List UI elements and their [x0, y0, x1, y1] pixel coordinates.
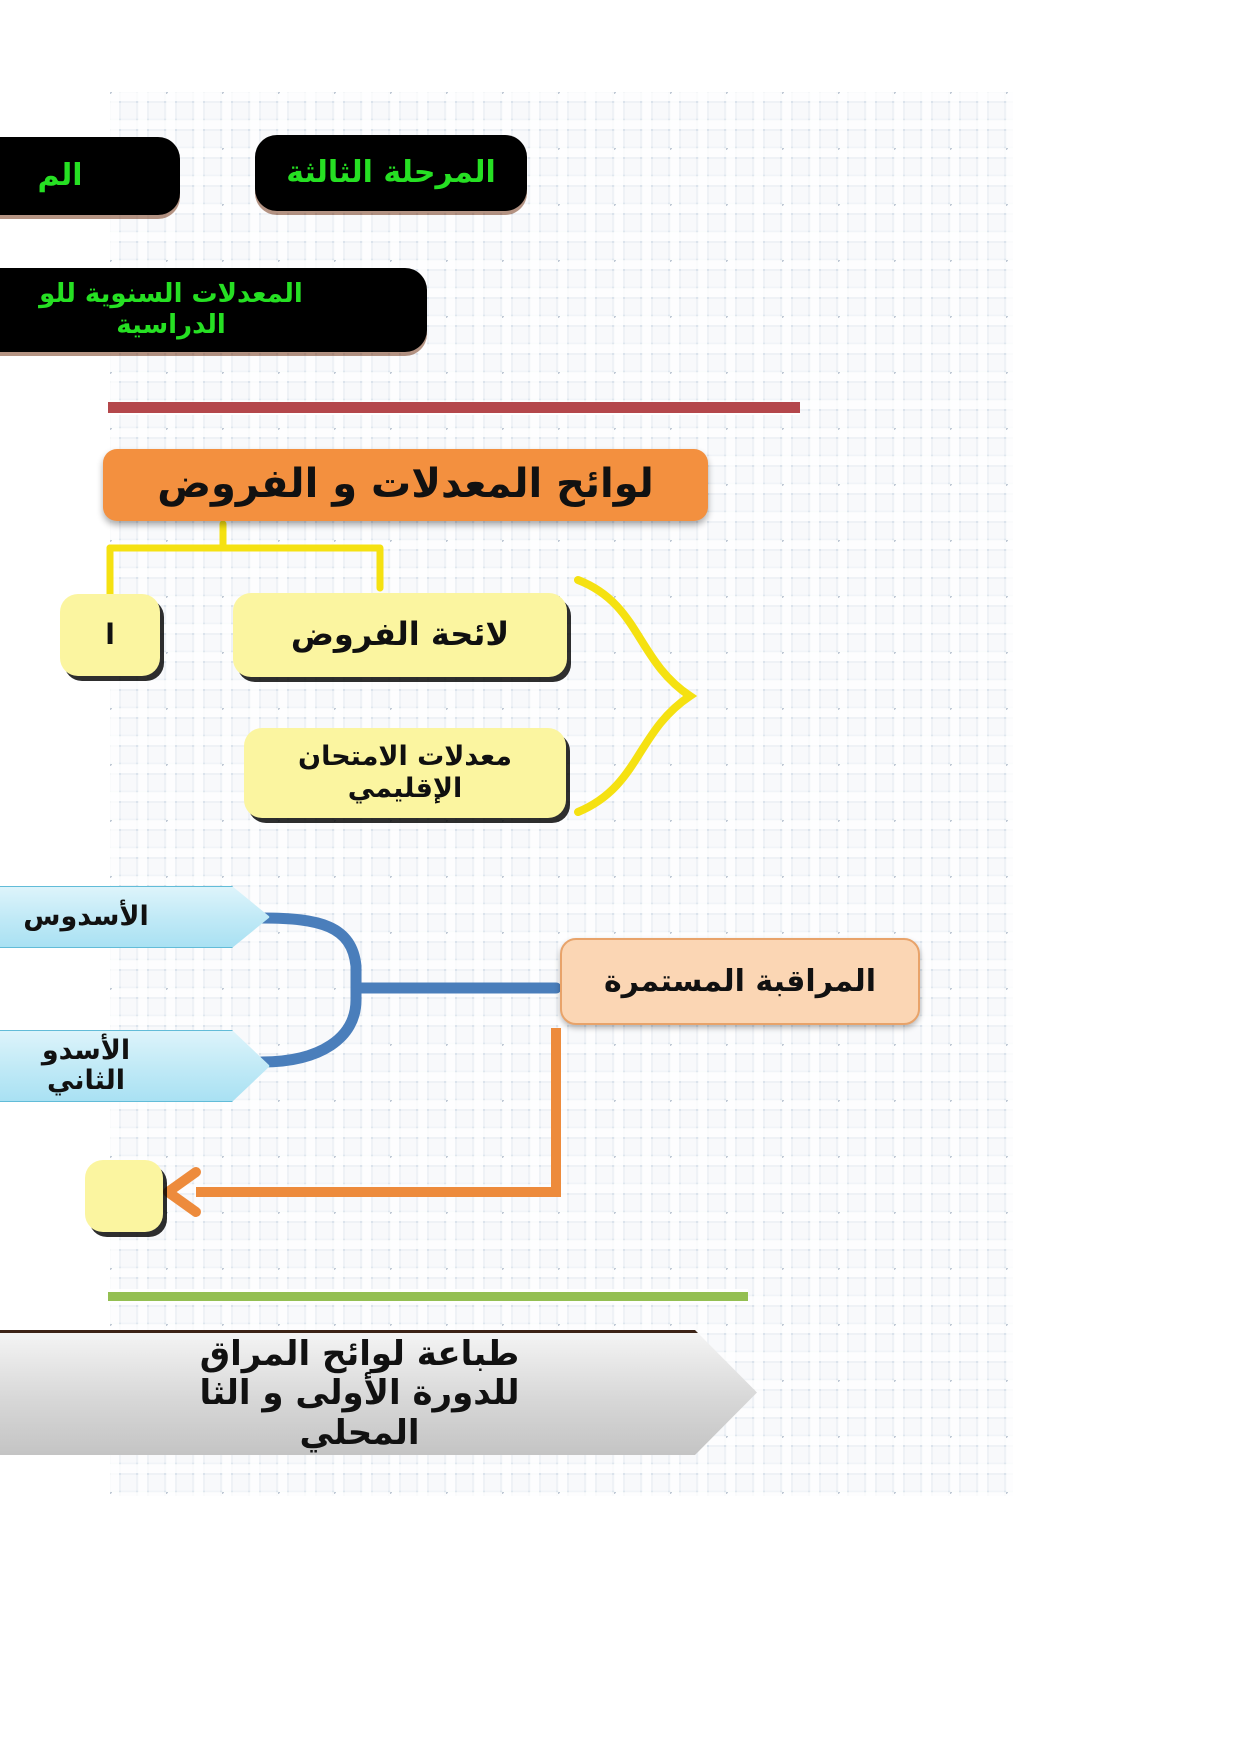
node-semester-one[interactable]: الأسدوس — [0, 886, 270, 948]
node-yellow-small-target[interactable] — [85, 1160, 163, 1232]
node-regional-exam-averages[interactable]: معدلات الامتحان الإقليمي — [244, 728, 566, 818]
footer-print-banner[interactable]: طباعة لوائح المراق للدورة الأولى و الثا … — [0, 1330, 757, 1455]
header-chip-stage[interactable]: المرحلة الثالثة — [255, 135, 527, 211]
slide-canvas: الم المرحلة الثالثة المعدلات السنوية للو… — [0, 0, 1241, 1754]
divider-red-top — [108, 402, 800, 413]
node-continuous-control[interactable]: المراقبة المستمرة — [560, 938, 920, 1025]
header-chip-annual-averages[interactable]: المعدلات السنوية للو الدراسية — [0, 268, 427, 352]
node-assignments-list[interactable]: لائحة الفروض — [233, 593, 567, 677]
node-semester-two[interactable]: الأسدو الثاني — [0, 1030, 270, 1102]
node-yellow-left-partial[interactable]: ا — [60, 594, 160, 676]
header-chip-left-partial[interactable]: الم — [0, 137, 180, 215]
divider-green-bottom — [108, 1292, 748, 1301]
section-banner-lists-title: لوائح المعدلات و الفروض — [103, 449, 708, 521]
